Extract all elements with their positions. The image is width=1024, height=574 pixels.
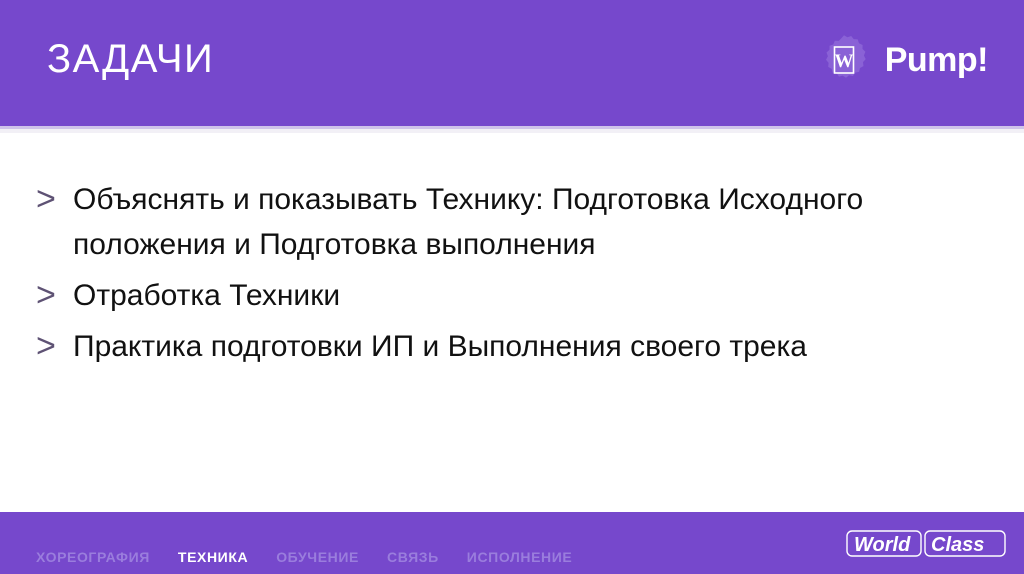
slide-footer: ХОРЕОГРАФИЯ ТЕХНИКА ОБУЧЕНИЕ СВЯЗЬ ИСПОЛ…: [0, 512, 1024, 574]
pump-logo: W Pump!: [817, 33, 988, 87]
list-item: > Отработка Техники: [36, 273, 986, 318]
pump-wordmark: Pump!: [885, 43, 988, 77]
chevron-right-icon: >: [36, 324, 73, 369]
world-class-word2: Class: [931, 534, 984, 556]
nav-item-technique[interactable]: ТЕХНИКА: [178, 548, 248, 566]
world-class-logo: World Class: [840, 526, 1012, 562]
svg-text:W: W: [834, 51, 853, 72]
chevron-right-icon: >: [36, 177, 73, 222]
list-item: > Объяснять и показывать Технику: Подгот…: [36, 177, 986, 267]
pump-badge-icon: W: [817, 33, 871, 87]
presentation-slide: ЗАДАЧИ W Pump! > Объяснять и показывать …: [0, 0, 1024, 574]
chevron-right-icon: >: [36, 273, 73, 318]
list-item-label: Практика подготовки ИП и Выполнения свое…: [73, 324, 928, 369]
list-item-label: Отработка Техники: [73, 273, 928, 318]
nav-item-connection[interactable]: СВЯЗЬ: [387, 548, 439, 566]
slide-body: > Объяснять и показывать Технику: Подгот…: [0, 133, 1024, 512]
page-title: ЗАДАЧИ: [47, 36, 214, 82]
list-item: > Практика подготовки ИП и Выполнения св…: [36, 324, 986, 369]
bullet-list: > Объяснять и показывать Технику: Подгот…: [36, 177, 986, 375]
world-class-word1: World: [854, 534, 911, 556]
list-item-label: Объяснять и показывать Технику: Подготов…: [73, 177, 928, 267]
nav-item-performance[interactable]: ИСПОЛНЕНИЕ: [467, 548, 573, 566]
nav-item-training[interactable]: ОБУЧЕНИЕ: [276, 548, 359, 566]
footer-navigation: ХОРЕОГРАФИЯ ТЕХНИКА ОБУЧЕНИЕ СВЯЗЬ ИСПОЛ…: [36, 548, 572, 566]
nav-item-choreography[interactable]: ХОРЕОГРАФИЯ: [36, 548, 150, 566]
